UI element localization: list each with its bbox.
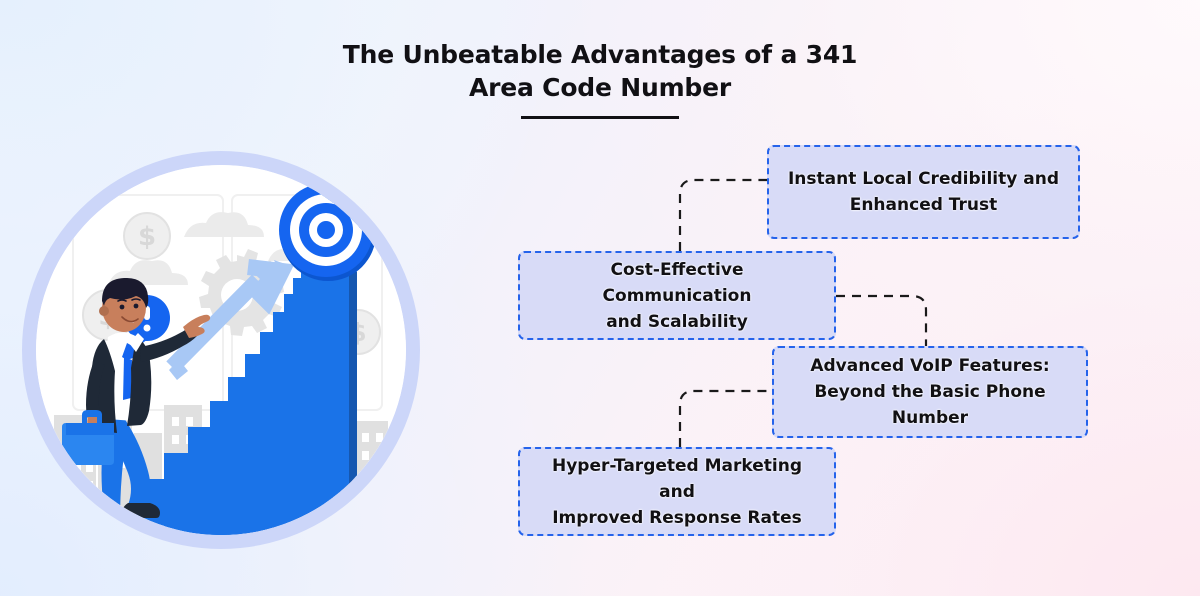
illustration-businessman-climbing-stairs: $ $ $	[22, 151, 420, 549]
title-line-1: The Unbeatable Advantages of a 341	[300, 38, 900, 71]
illustration-inner-circle: $ $ $	[36, 165, 406, 535]
svg-text:$: $	[138, 222, 156, 252]
illustration-svg: $ $ $	[36, 165, 406, 535]
title-line-2: Area Code Number	[300, 71, 900, 104]
flow-box-label: Cost-Effective Communication and Scalabi…	[534, 257, 820, 335]
connector-voip-to-marketing	[680, 391, 772, 447]
flow-box-label: Hyper-Targeted Marketing and Improved Re…	[534, 453, 820, 531]
flow-box-hyper-targeted-marketing[interactable]: Hyper-Targeted Marketing and Improved Re…	[518, 447, 836, 536]
bullseye-target	[279, 183, 376, 281]
flow-box-label: Advanced VoIP Features: Beyond the Basic…	[788, 353, 1072, 431]
connector-cost-to-voip	[836, 296, 926, 346]
title-underline	[521, 116, 679, 119]
flow-box-advanced-voip-features[interactable]: Advanced VoIP Features: Beyond the Basic…	[772, 346, 1088, 438]
flow-box-cost-effective-communication[interactable]: Cost-Effective Communication and Scalabi…	[518, 251, 836, 340]
connector-cost-to-instant	[680, 180, 767, 251]
flow-box-label: Instant Local Credibility and Enhanced T…	[788, 166, 1059, 218]
page-title: The Unbeatable Advantages of a 341 Area …	[300, 38, 900, 119]
flow-box-instant-local-credibility[interactable]: Instant Local Credibility and Enhanced T…	[767, 145, 1080, 239]
